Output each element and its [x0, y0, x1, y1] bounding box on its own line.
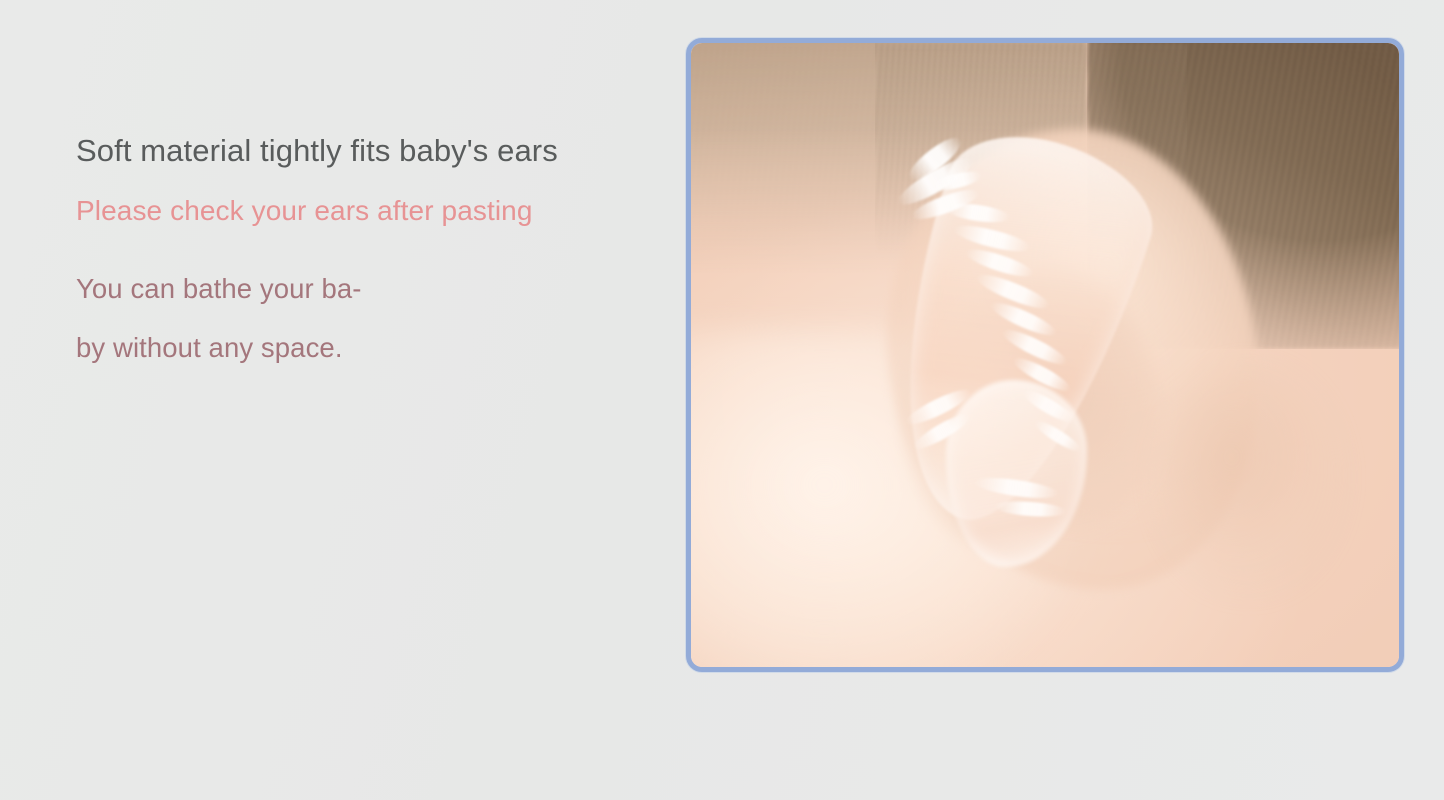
body-line-2: by without any space. — [76, 318, 656, 377]
text-column: Soft material tightly fits baby's ears P… — [76, 132, 656, 377]
baby-ear-photo — [691, 43, 1399, 667]
ear-lobe-shadow — [1158, 367, 1342, 592]
headline-text: Soft material tightly fits baby's ears — [76, 132, 656, 170]
page-root: Soft material tightly fits baby's ears P… — [0, 0, 1444, 800]
body-line-1: You can bathe your ba- — [76, 259, 656, 318]
body-text-block: You can bathe your ba- by without any sp… — [76, 259, 656, 377]
warning-text: Please check your ears after pasting — [76, 194, 656, 229]
photo-frame — [686, 38, 1404, 672]
